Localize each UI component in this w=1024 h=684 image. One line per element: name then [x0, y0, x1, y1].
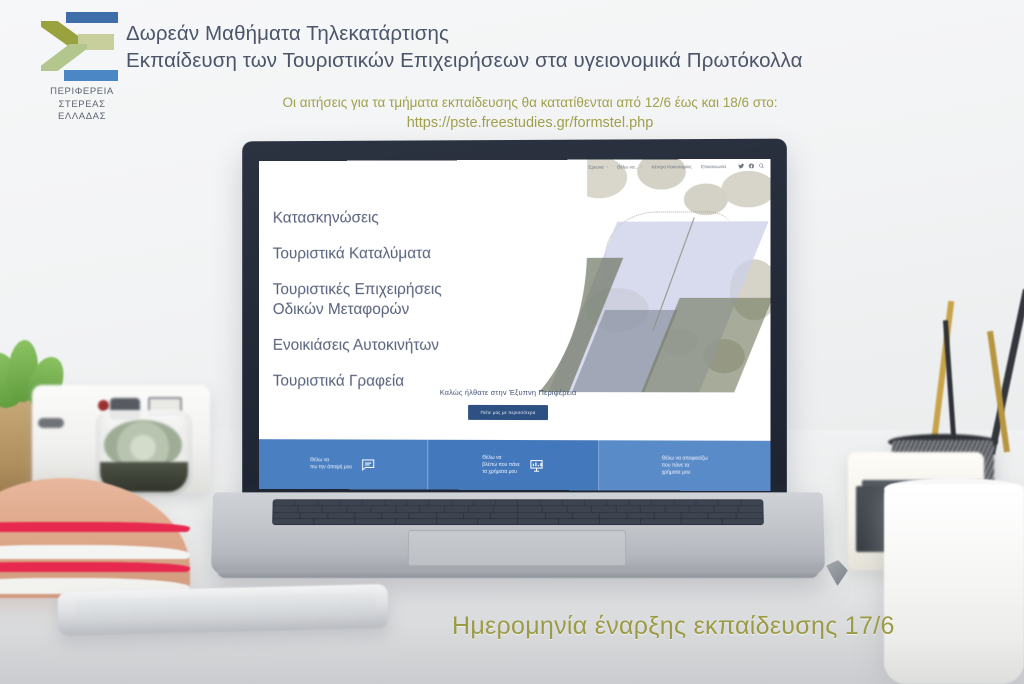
logo-chevron-lower-icon — [41, 44, 87, 71]
cta-panel-decide[interactable]: Θέλω να αποφασίζω που πάνε τα χρήματα μο… — [599, 440, 770, 491]
white-mug — [884, 484, 1024, 684]
chevron-down-icon — [640, 166, 642, 167]
service-label-line2: Οδικών Μεταφορών — [273, 300, 571, 320]
sigma-logo-mark — [38, 10, 118, 82]
training-start-date: Ημερομηνία έναρξης εκπαίδευσης 17/6 — [452, 612, 895, 641]
nav-social-icons — [738, 163, 764, 169]
nav-item-epikoinonia[interactable]: Επικοινωνία — [701, 164, 726, 169]
keyboard-row — [273, 506, 762, 511]
nav-label: Κέντρο Καινοτομίας — [652, 164, 692, 169]
cta-line-2: πω την άποψή μου — [310, 464, 352, 471]
headline-line-1: Δωρεάν Μαθήματα Τηλεκατάρτισης — [126, 20, 956, 47]
cta-panel-bar: Θέλω να πω την άποψή μου Θέλω να βλέπω π… — [259, 439, 771, 491]
nav-label: Έρευνα — [588, 164, 604, 169]
service-item-touristika-katalymata[interactable]: Τουριστικά Καταλύματα — [273, 244, 571, 265]
camera-grip — [38, 418, 64, 428]
service-label: Τουριστικές Επιχειρήσεις — [273, 281, 442, 298]
speech-bubble-icon — [361, 457, 376, 472]
case-zipper-red — [0, 522, 190, 532]
cta-line-3: χρήματα μου — [662, 469, 708, 476]
keyboard-row — [273, 519, 763, 524]
logo-caption-line-2: ΣΤΕΡΕΑΣ — [34, 99, 130, 112]
cta-line-1: Θέλω να — [482, 454, 520, 461]
hero-welcome-block: Καλώς ήλθατε στην Έξυπνη Περιφέρεια Πείτ… — [344, 388, 674, 421]
cta-panel-opinion-text: Θέλω να πω την άποψή μου — [310, 457, 352, 471]
nav-item-kentro-kainotomias[interactable]: Κέντρο Καινοτομίας — [652, 164, 692, 169]
laptop-trackpad[interactable] — [408, 530, 627, 566]
nav-item-erevna[interactable]: Έρευνα — [588, 164, 608, 169]
laptop-keyboard[interactable] — [272, 499, 764, 525]
facebook-icon[interactable] — [748, 163, 754, 169]
logo-caption-line-1: ΠΕΡΙΦΕΡΕΙΑ — [34, 86, 130, 99]
logo-bar-bottom-icon — [64, 70, 118, 81]
learn-more-button[interactable]: Πείτε μας με περισσότερα — [468, 405, 549, 420]
laptop-base — [211, 492, 825, 574]
welcome-title: Καλώς ήλθατε στην Έξυπνη Περιφέρεια — [344, 388, 674, 398]
cta-panel-transparency-text: Θέλω να βλέπω που πάνε τα χρήματα μου — [482, 454, 520, 475]
logo-bar-top-icon — [66, 12, 118, 23]
headline-line-2: Εκπαίδευση των Τουριστικών Επιχειρήσεων … — [126, 47, 956, 74]
laptop: Έρευνα Θέλω να... Κέντρο Καινοτομίας Επι… — [212, 140, 832, 610]
nav-label: Θέλω να... — [617, 164, 639, 169]
keyboard-row — [273, 513, 762, 518]
laptop-base-edge — [217, 570, 819, 578]
application-info: Οι αιτήσεις για τα τμήματα εκπαίδευσης θ… — [150, 92, 910, 134]
poster-canvas: ΠΕΡΙΦΕΡΕΙΑ ΣΤΕΡΕΑΣ ΕΛΛΑΔΑΣ Δωρεάν Μαθήμα… — [0, 0, 1024, 684]
cta-line-2: βλέπω που πάνε — [482, 461, 520, 468]
application-url[interactable]: https://pste.freestudies.gr/formstel.php — [150, 113, 910, 134]
laptop-screen: Έρευνα Θέλω να... Κέντρο Καινοτομίας Επι… — [259, 159, 771, 491]
cta-line-3: τα χρήματα μου — [482, 468, 520, 475]
cta-panel-transparency[interactable]: Θέλω να βλέπω που πάνε τα χρήματα μου — [428, 440, 599, 491]
twitter-icon[interactable] — [738, 163, 744, 169]
case-zipper-red-lower — [0, 562, 190, 572]
search-icon[interactable] — [758, 163, 764, 169]
service-label: Κατασκηνώσεις — [273, 209, 379, 226]
application-period-text: Οι αιτήσεις για τα τμήματα εκπαίδευσης θ… — [150, 92, 910, 113]
nav-item-thelo-na[interactable]: Θέλω να... — [617, 164, 643, 169]
poster-headline: Δωρεάν Μαθήματα Τηλεκατάρτισης Εκπαίδευσ… — [126, 20, 956, 74]
nav-label: Επικοινωνία — [701, 164, 726, 169]
bar-chart-icon — [529, 458, 544, 473]
service-item-odikon-metaforon[interactable]: Τουριστικές Επιχειρήσεις Οδικών Μεταφορώ… — [273, 280, 571, 320]
chevron-down-icon — [606, 166, 608, 167]
logo-caption: ΠΕΡΙΦΕΡΕΙΑ ΣΤΕΡΕΑΣ ΕΛΛΑΔΑΣ — [34, 86, 130, 124]
service-label: Τουριστικά Καταλύματα — [273, 245, 431, 262]
cta-panel-opinion[interactable]: Θέλω να πω την άποψή μου — [259, 439, 428, 489]
logo-caption-line-3: ΕΛΛΑΔΑΣ — [34, 111, 130, 124]
cta-panel-decide-text: Θέλω να αποφασίζω που πάνε τα χρήματα μο… — [662, 455, 708, 476]
service-item-enoikiaseis-aftokiniton[interactable]: Ενοικιάσεις Αυτοκινήτων — [273, 336, 571, 356]
keyboard-row — [274, 500, 763, 505]
service-label: Ενοικιάσεις Αυτοκινήτων — [273, 337, 439, 354]
cta-line-1: Θέλω να αποφασίζω — [662, 455, 708, 462]
cta-line-2: που πάνε τα — [662, 462, 708, 469]
service-item-kataskinoseis[interactable]: Κατασκηνώσεις — [273, 208, 571, 229]
site-navigation: Έρευνα Θέλω να... Κέντρο Καινοτομίας Επι… — [588, 163, 765, 170]
services-list: Κατασκηνώσεις Τουριστικά Καταλύματα Τουρ… — [273, 208, 571, 408]
region-logo: ΠΕΡΙΦΕΡΕΙΑ ΣΤΕΡΕΑΣ ΕΛΛΑΔΑΣ — [20, 6, 132, 131]
case-layer-white — [0, 545, 190, 559]
